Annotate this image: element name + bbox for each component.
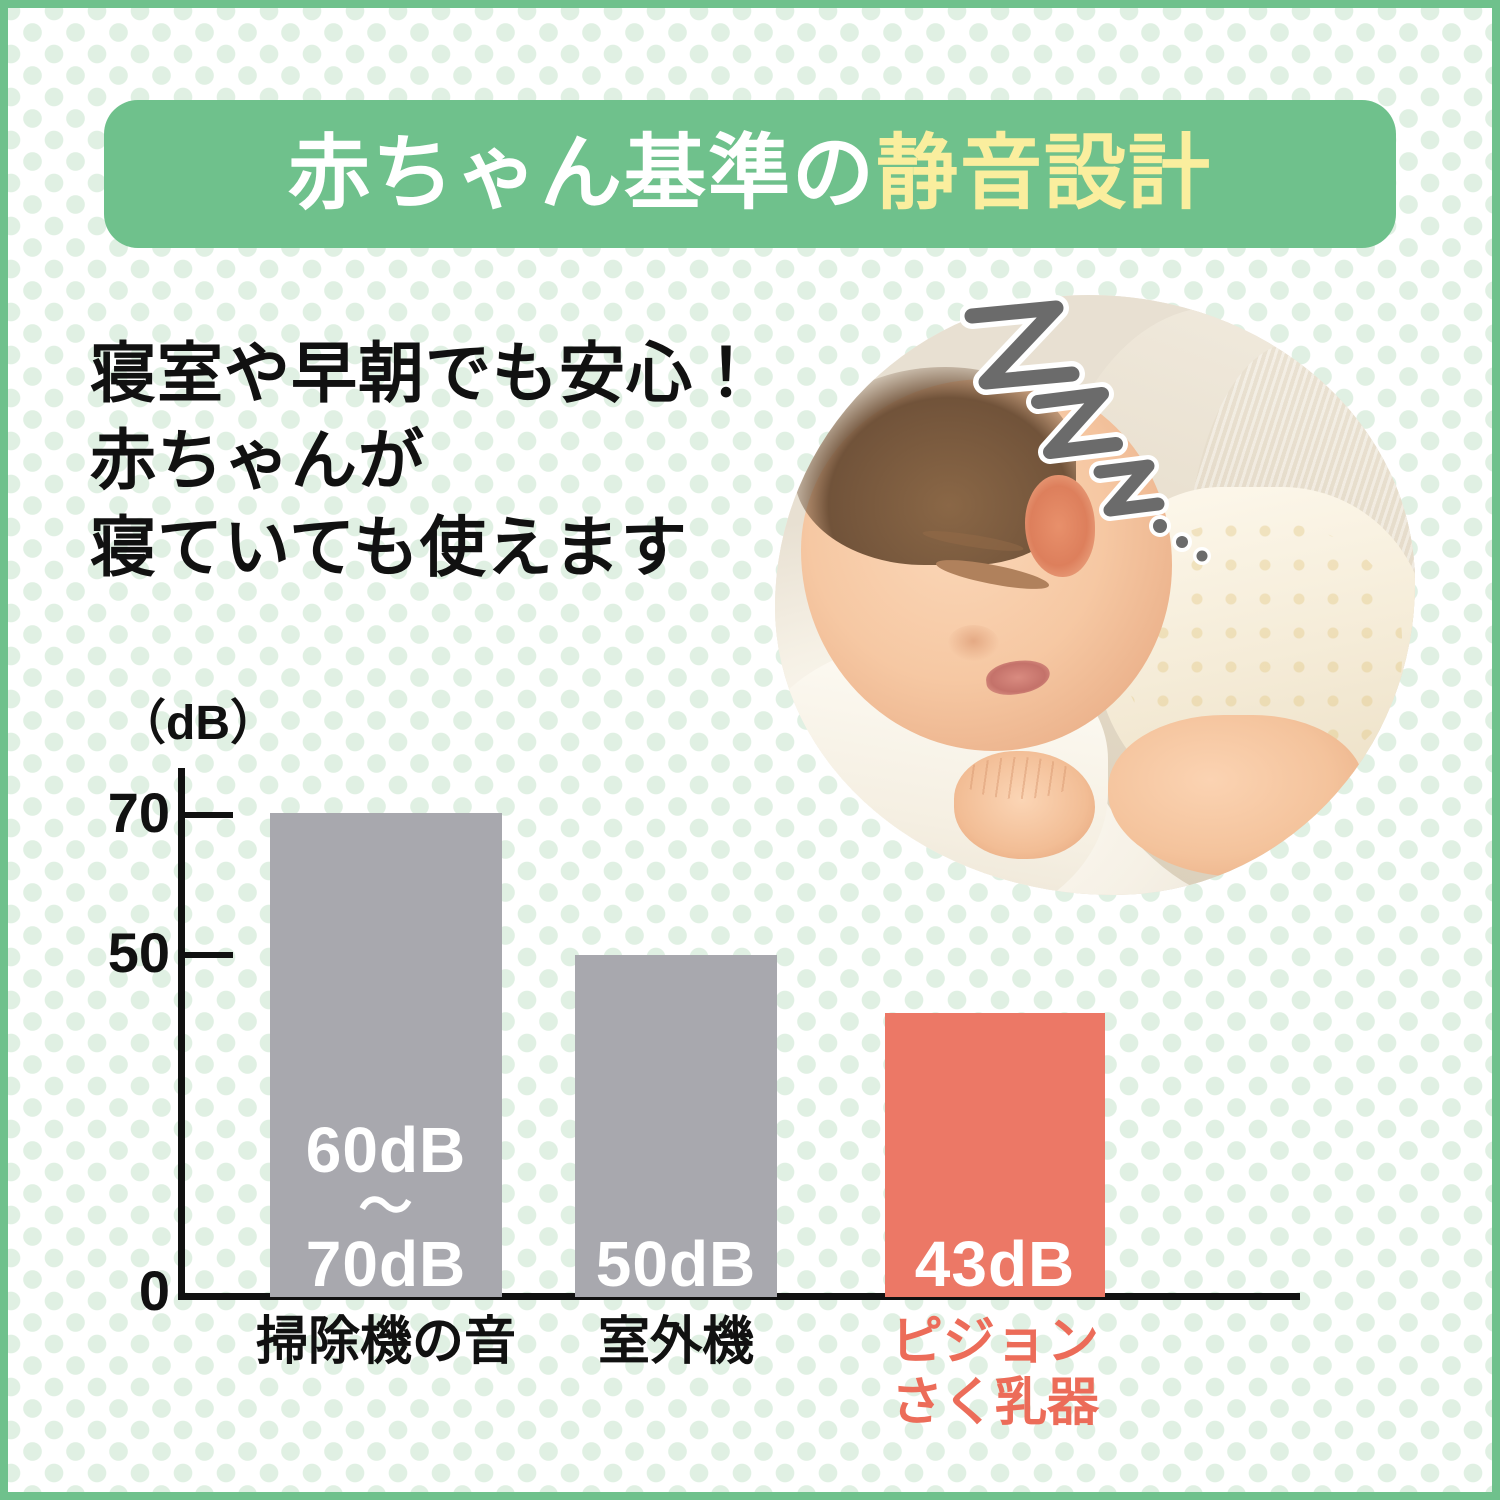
y-axis-line (178, 768, 185, 1300)
y-axis-unit-label: （dB） (118, 683, 278, 753)
bar-pigeon-breast-pump: 43dB (885, 1013, 1105, 1297)
x-category-label-vacuum-cleaner: 掃除機の音 (236, 1312, 536, 1373)
bar-vacuum-cleaner-inner: 60dB 〜 70dB (270, 988, 502, 1297)
bar-outdoor-unit: 50dB (575, 955, 777, 1297)
bar-pigeon-breast-pump-value: 43dB (915, 1232, 1076, 1297)
y-tick-label-0: 0 (80, 1263, 170, 1319)
y-tick-label-50: 50 (80, 925, 170, 981)
y-tick-label-70: 70 (80, 785, 170, 841)
cat-3-line-2: さく乳器 (875, 1373, 1115, 1434)
bar-1-label-bottom: 70dB (306, 1228, 467, 1300)
bar-vacuum-cleaner-value: 60dB 〜 70dB (306, 1118, 467, 1297)
noise-level-bar-chart: （dB） 70 50 0 60dB 〜 70dB 50dB (0, 0, 1500, 1500)
x-category-label-pigeon-breast-pump: ピジョン さく乳器 (875, 1312, 1115, 1435)
bar-pigeon-breast-pump-inner: 43dB (885, 1156, 1105, 1297)
cat-1-line-1: 掃除機の音 (236, 1312, 536, 1373)
cat-2-line-1: 室外機 (576, 1312, 776, 1373)
bar-outdoor-unit-value: 50dB (596, 1232, 757, 1297)
bar-1-label-tilde: 〜 (306, 1183, 467, 1232)
bar-1-label-top: 60dB (306, 1114, 467, 1186)
bar-vacuum-cleaner: 60dB 〜 70dB (270, 813, 502, 1297)
y-tick-50 (185, 952, 233, 958)
infographic-page: 赤ちゃん基準の静音設計 寝室や早朝でも安心！ 赤ちゃんが 寝ていても使えます (0, 0, 1500, 1500)
cat-3-line-1: ピジョン (875, 1312, 1115, 1373)
y-tick-70 (185, 812, 233, 818)
sleep-zzz-icon (960, 290, 1220, 570)
bar-outdoor-unit-inner: 50dB (575, 1110, 777, 1297)
x-category-label-outdoor-unit: 室外機 (576, 1312, 776, 1373)
